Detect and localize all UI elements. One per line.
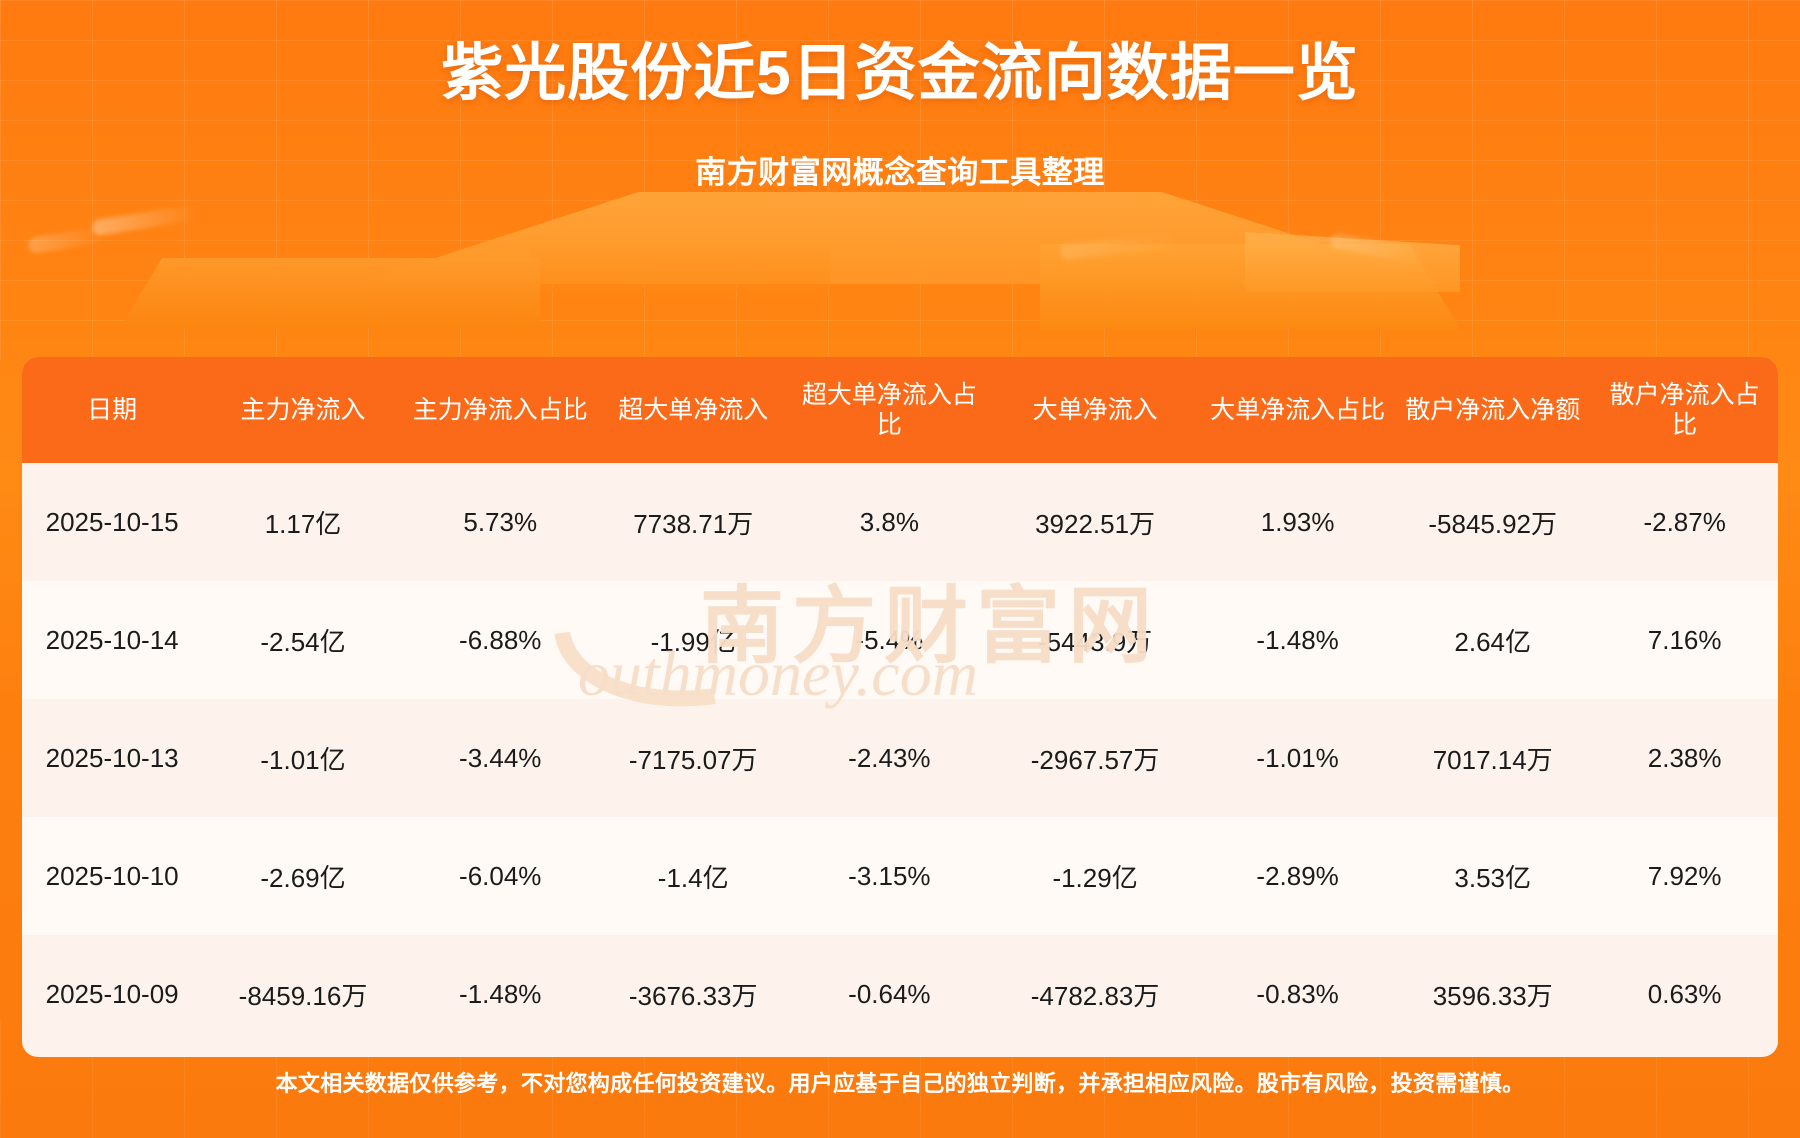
cell-main-net: -1.01亿: [202, 699, 403, 817]
cell-retail-net: 3596.33万: [1394, 935, 1591, 1053]
cell-xl-pct: -3.15%: [790, 817, 989, 935]
column-header-retail-pct: 散户净流入占比: [1591, 357, 1778, 463]
cell-retail-pct: 7.16%: [1591, 581, 1778, 699]
column-header-xl-pct: 超大单净流入占比: [790, 357, 989, 463]
cell-main-pct: -3.44%: [404, 699, 597, 817]
cell-retail-net: 7017.14万: [1394, 699, 1591, 817]
cell-xl-net: -1.99亿: [597, 581, 790, 699]
cell-main-net: 1.17亿: [202, 463, 403, 581]
podium-block-far-right: [1245, 232, 1460, 292]
light-streak-decoration: [91, 204, 200, 237]
column-header-lg-net: 大单净流入: [989, 357, 1201, 463]
podium-block-left: [120, 258, 540, 328]
cell-lg-pct: -0.83%: [1201, 935, 1394, 1053]
table-header: 日期 主力净流入 主力净流入占比 超大单净流入 超大单净流入占比 大单净流入 大…: [22, 357, 1778, 463]
cell-xl-net: 7738.71万: [597, 463, 790, 581]
cell-retail-net: -5845.92万: [1394, 463, 1591, 581]
cell-retail-pct: -2.87%: [1591, 463, 1778, 581]
cell-main-net: -8459.16万: [202, 935, 403, 1053]
podium-block-right: [1040, 244, 1460, 329]
cell-lg-net: -2967.57万: [989, 699, 1201, 817]
light-streak-decoration: [1329, 232, 1426, 264]
column-header-main-pct: 主力净流入占比: [404, 357, 597, 463]
podium-block-top: [355, 192, 1445, 284]
cell-lg-net: -4782.83万: [989, 935, 1201, 1053]
cell-lg-pct: -1.48%: [1201, 581, 1394, 699]
cell-main-pct: -1.48%: [404, 935, 597, 1053]
cell-retail-net: 3.53亿: [1394, 817, 1591, 935]
data-table-card: 日期 主力净流入 主力净流入占比 超大单净流入 超大单净流入占比 大单净流入 大…: [22, 357, 1778, 1057]
column-header-lg-pct: 大单净流入占比: [1201, 357, 1394, 463]
column-header-xl-net: 超大单净流入: [597, 357, 790, 463]
column-header-date: 日期: [22, 357, 202, 463]
cell-main-pct: 5.73%: [404, 463, 597, 581]
cell-lg-net: -5443.9万: [989, 581, 1201, 699]
table-row: 2025-10-13 -1.01亿 -3.44% -7175.07万 -2.43…: [22, 699, 1778, 817]
cell-retail-pct: 7.92%: [1591, 817, 1778, 935]
column-header-main-net: 主力净流入: [202, 357, 403, 463]
cell-lg-pct: -1.01%: [1201, 699, 1394, 817]
table-row: 2025-10-09 -8459.16万 -1.48% -3676.33万 -0…: [22, 935, 1778, 1053]
cell-date: 2025-10-13: [22, 699, 202, 817]
cell-date: 2025-10-14: [22, 581, 202, 699]
cell-xl-pct: 3.8%: [790, 463, 989, 581]
cell-date: 2025-10-09: [22, 935, 202, 1053]
column-header-retail-net: 散户净流入净额: [1394, 357, 1591, 463]
cell-date: 2025-10-15: [22, 463, 202, 581]
cell-main-pct: -6.88%: [404, 581, 597, 699]
fund-flow-table: 日期 主力净流入 主力净流入占比 超大单净流入 超大单净流入占比 大单净流入 大…: [22, 357, 1778, 1053]
cell-retail-net: 2.64亿: [1394, 581, 1591, 699]
cell-xl-net: -7175.07万: [597, 699, 790, 817]
table-row: 2025-10-10 -2.69亿 -6.04% -1.4亿 -3.15% -1…: [22, 817, 1778, 935]
cell-xl-pct: -2.43%: [790, 699, 989, 817]
light-streak-decoration: [1059, 232, 1180, 260]
podium-block-middle: [530, 238, 830, 292]
cell-lg-pct: 1.93%: [1201, 463, 1394, 581]
table-body: 2025-10-15 1.17亿 5.73% 7738.71万 3.8% 392…: [22, 463, 1778, 1053]
cell-lg-pct: -2.89%: [1201, 817, 1394, 935]
cell-main-pct: -6.04%: [404, 817, 597, 935]
cell-retail-pct: 2.38%: [1591, 699, 1778, 817]
cell-lg-net: 3922.51万: [989, 463, 1201, 581]
disclaimer-text: 本文相关数据仅供参考，不对您构成任何投资建议。用户应基于自己的独立判断，并承担相…: [0, 1066, 1800, 1098]
cell-date: 2025-10-10: [22, 817, 202, 935]
table-header-row: 日期 主力净流入 主力净流入占比 超大单净流入 超大单净流入占比 大单净流入 大…: [22, 357, 1778, 463]
table-row: 2025-10-14 -2.54亿 -6.88% -1.99亿 -5.4% -5…: [22, 581, 1778, 699]
light-streak-decoration: [27, 226, 107, 254]
cell-main-net: -2.54亿: [202, 581, 403, 699]
cell-xl-pct: -0.64%: [790, 935, 989, 1053]
cell-lg-net: -1.29亿: [989, 817, 1201, 935]
cell-xl-pct: -5.4%: [790, 581, 989, 699]
page-subtitle: 南方财富网概念查询工具整理: [0, 147, 1800, 192]
table-row: 2025-10-15 1.17亿 5.73% 7738.71万 3.8% 392…: [22, 463, 1778, 581]
cell-xl-net: -1.4亿: [597, 817, 790, 935]
page-title: 紫光股份近5日资金流向数据一览: [0, 40, 1800, 108]
infographic-canvas: 紫光股份近5日资金流向数据一览 南方财富网概念查询工具整理 日期 主力净流入 主…: [0, 0, 1800, 1138]
cell-retail-pct: 0.63%: [1591, 935, 1778, 1053]
cell-main-net: -2.69亿: [202, 817, 403, 935]
cell-xl-net: -3676.33万: [597, 935, 790, 1053]
